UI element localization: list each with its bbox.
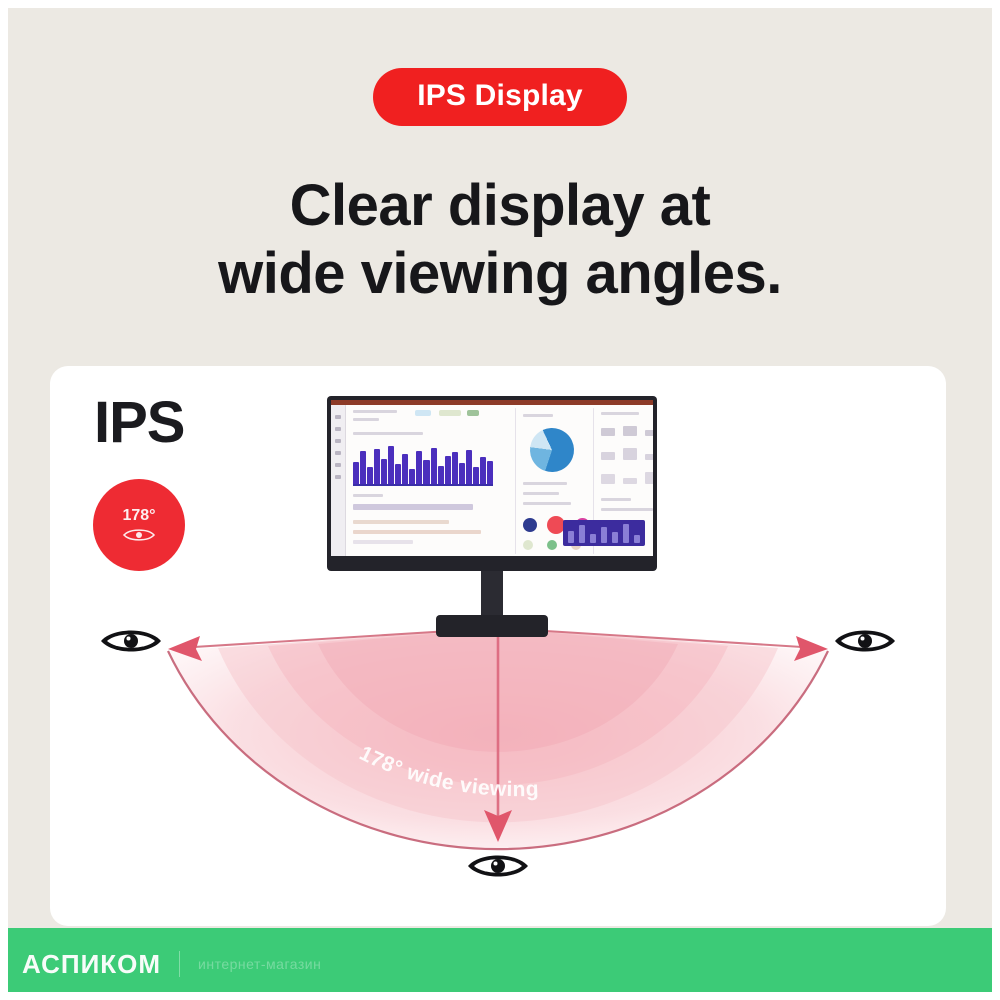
footer-tagline: интернет-магазин xyxy=(198,956,321,972)
ips-display-badge: IPS Display xyxy=(373,68,627,126)
pie-chart xyxy=(523,421,581,479)
screen-sidebar xyxy=(331,405,346,556)
monitor-screen xyxy=(331,400,653,556)
monitor-stand-base xyxy=(436,615,548,637)
monitor-illustration xyxy=(327,396,657,571)
footer-divider xyxy=(179,951,180,977)
footer-bar: АСПИКОМ интернет-магазин xyxy=(0,928,1000,1000)
angle-degree-value: 178° xyxy=(122,508,155,524)
promo-banner: IPS Display Clear display at wide viewin… xyxy=(0,0,1000,1000)
screen-topbar xyxy=(331,400,653,405)
bar-chart xyxy=(353,446,493,486)
accent-chart-block xyxy=(563,520,645,546)
eye-right-icon xyxy=(832,624,898,658)
monitor-bezel xyxy=(327,396,657,571)
headline-line-2: wide viewing angles. xyxy=(0,240,1000,308)
badge-row: IPS Display xyxy=(0,68,1000,126)
screen-dashboard xyxy=(347,408,651,554)
illustration-card: 178° wide viewing IPS 178° xyxy=(50,366,946,926)
eye-bottom-icon xyxy=(465,849,531,883)
ips-label: IPS xyxy=(94,394,185,452)
angle-degree-badge: 178° xyxy=(93,479,185,571)
headline-line-1: Clear display at xyxy=(290,173,711,238)
page-title: Clear display at wide viewing angles. xyxy=(0,172,1000,308)
eye-icon xyxy=(122,527,156,543)
legend-dot-blue xyxy=(523,518,537,532)
brand-logo: АСПИКОМ xyxy=(22,949,161,980)
monitor-stand-neck xyxy=(481,571,503,619)
eye-left-icon xyxy=(98,624,164,658)
